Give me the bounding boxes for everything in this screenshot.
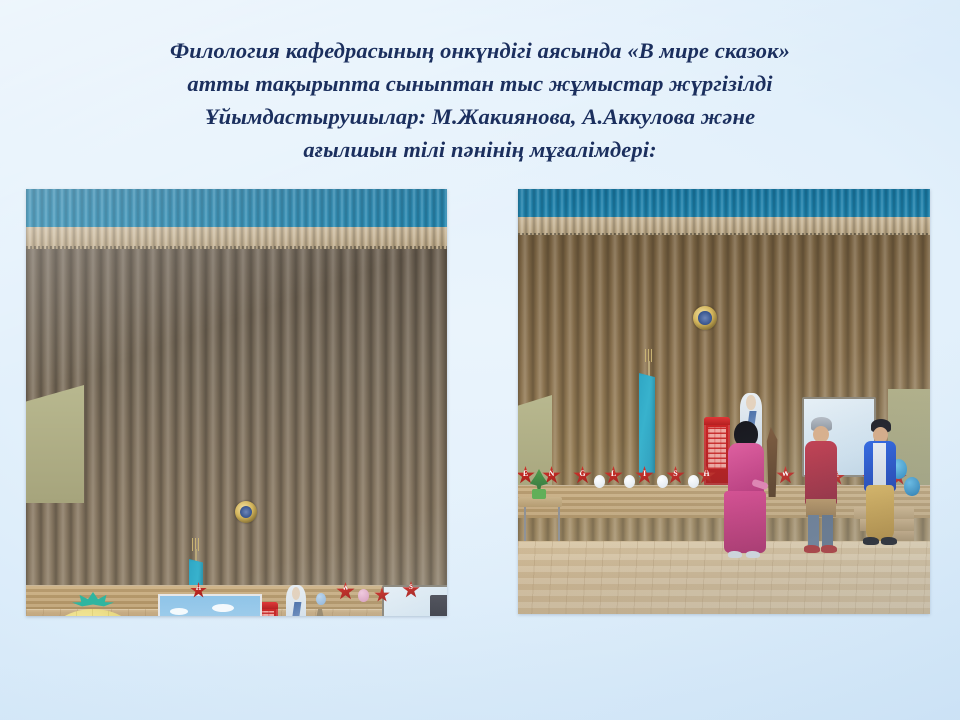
av-cart: [430, 595, 447, 616]
sari-top: [728, 443, 764, 497]
shoe: [728, 551, 742, 558]
curtain-top-teal: [26, 189, 447, 227]
cottage-cloud: [170, 608, 188, 615]
balloon-white: [594, 475, 605, 488]
queen-elizabeth-figure: [286, 585, 306, 616]
shoe: [804, 545, 820, 553]
kurta: [805, 441, 837, 505]
kazakhstan-emblem-icon: [693, 306, 717, 330]
leg: [822, 515, 833, 547]
painted-cottage-board: [158, 594, 262, 616]
inner-shirt: [873, 443, 886, 491]
stage-scene-right: E N G L I S H W E E K: [518, 189, 930, 614]
performer-red-kurta: [800, 417, 842, 561]
title-line-2: атты тақырыпта сыныптан тыс жұмыстар жүр…: [60, 67, 900, 100]
stage-photo-left[interactable]: H W S: [26, 189, 447, 616]
plant-pot: [532, 489, 546, 499]
title-line-1: Филология кафедрасының онкүндігі аясында…: [60, 34, 900, 67]
kazakhstan-flag-icon: [639, 373, 655, 477]
balloon-white: [624, 475, 635, 488]
shoe: [746, 551, 760, 558]
title-line-4: ағылшын тілі пәнінің мұғалімдері:: [60, 133, 900, 166]
queen-head: [746, 395, 756, 410]
title-line-3: Ұйымдастырушылар: М.Жакиянова, А.Аккулов…: [60, 100, 900, 133]
slide-canvas: Филология кафедрасының онкүндігі аясында…: [0, 0, 960, 720]
performer-pink-sari: [722, 421, 768, 561]
gold-pants: [866, 485, 894, 541]
balloon-blue: [904, 477, 920, 496]
balloon-white: [688, 475, 699, 488]
balloon: [358, 589, 369, 602]
shoe: [821, 545, 837, 553]
performer-blue-vest: [860, 419, 902, 559]
stage-photo-right[interactable]: E N G L I S H W E E K: [518, 189, 930, 614]
curtain-top-teal: [518, 189, 930, 219]
leg: [808, 515, 819, 547]
stage-scene-left: H W S: [26, 189, 447, 616]
balloon: [316, 593, 326, 605]
queen-sash: [290, 602, 302, 616]
side-wall-left: [26, 385, 84, 503]
kazakhstan-emblem-icon: [235, 501, 257, 523]
sari-skirt: [724, 491, 766, 553]
queen-head: [292, 587, 301, 601]
shoe: [863, 537, 879, 545]
shoe: [881, 537, 897, 545]
page-title: Филология кафедрасының онкүндігі аясында…: [60, 34, 900, 166]
curtain-body-brown: [26, 249, 447, 616]
cottage-cloud: [212, 604, 234, 612]
balloon-white: [657, 475, 668, 488]
